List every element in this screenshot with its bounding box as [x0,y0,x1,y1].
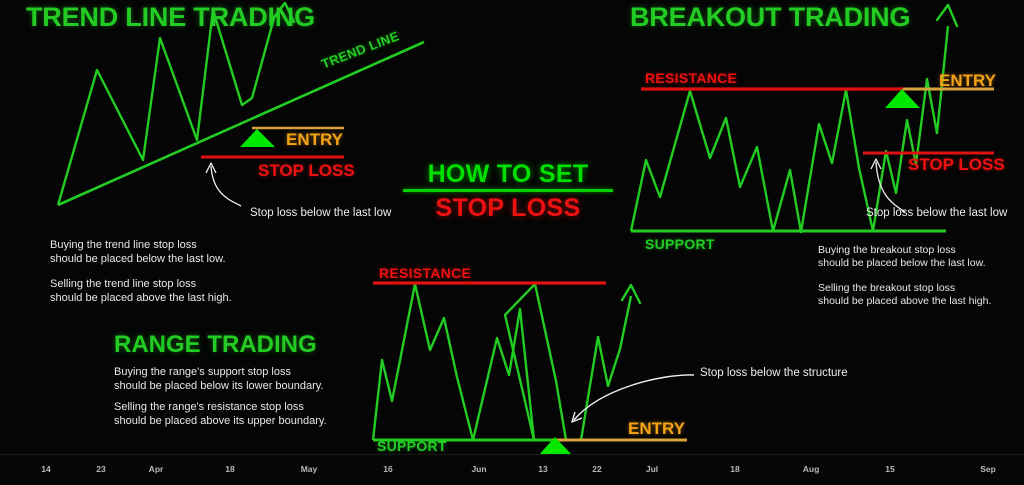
range-entry-label: ENTRY [628,419,685,439]
axis-tick-label: Jun [471,464,486,474]
breakout-stop-loss-label: STOP LOSS [908,155,1005,175]
breakout-panel-title: BREAKOUT TRADING [630,2,910,33]
center-title-line1: HOW TO SET [403,160,613,189]
axis-tick-label: May [301,464,318,474]
breakout-callout-text: Stop loss below the last low [866,207,1007,219]
range-sell-text: Selling the range's resistance stop loss… [114,401,327,428]
trend-line-chart [58,3,424,206]
center-title-line2: STOP LOSS [403,194,613,223]
axis-tick-label: 22 [592,464,601,474]
breakout-price-path [631,26,948,232]
infographic-canvas: TREND LINE TRADING TREND LINE ENTRY STOP… [0,0,1024,485]
range-price-path [373,284,631,440]
trend-line-sell-text: Selling the trend line stop loss should … [50,278,232,305]
axis-tick-label: 14 [41,464,50,474]
range-resistance-label: RESISTANCE [379,265,471,281]
axis-tick-label: Sep [980,464,996,474]
trend-line-stop-loss-label: STOP LOSS [258,161,355,181]
axis-tick-label: Aug [803,464,820,474]
axis-tick-label: 13 [538,464,547,474]
breakout-entry-label: ENTRY [939,71,996,91]
range-callout-arrow-icon [574,375,694,420]
axis-tick-label: Jul [646,464,658,474]
center-title-underline [403,189,613,192]
breakout-resistance-label: RESISTANCE [645,70,737,86]
axis-tick-label: 15 [885,464,894,474]
breakout-buy-text: Buying the breakout stop loss should be … [818,244,986,270]
trend-line-callout-text: Stop loss below the last low [250,207,391,219]
trend-line-entry-triangle-icon [240,129,275,147]
center-title-block: HOW TO SET STOP LOSS [403,160,613,223]
breakout-chart [631,5,994,232]
range-support-label: SUPPORT [377,438,447,454]
range-buy-text: Buying the range's support stop loss sho… [114,366,324,393]
range-panel-title: RANGE TRADING [114,331,317,359]
date-axis: 1423Apr18May16Jun1322Jul18Aug15Sep [0,454,1024,485]
axis-tick-label: 23 [96,464,105,474]
axis-tick-label: 18 [225,464,234,474]
range-callout-text: Stop loss below the structure [700,367,848,379]
axis-tick-label: 18 [730,464,739,474]
trend-line-entry-label: ENTRY [286,130,343,150]
trend-line-buy-text: Buying the trend line stop loss should b… [50,239,226,266]
trend-line-panel-title: TREND LINE TRADING [26,2,315,33]
breakout-support-label: SUPPORT [645,236,715,252]
trend-line-price-path [58,10,274,205]
breakout-sell-text: Selling the breakout stop loss should be… [818,282,991,308]
breakout-arrow-head-icon [937,5,957,26]
axis-tick-label: 16 [383,464,392,474]
breakout-entry-triangle-icon [885,89,920,108]
trend-line-guide [58,42,424,205]
axis-tick-label: Apr [149,464,164,474]
